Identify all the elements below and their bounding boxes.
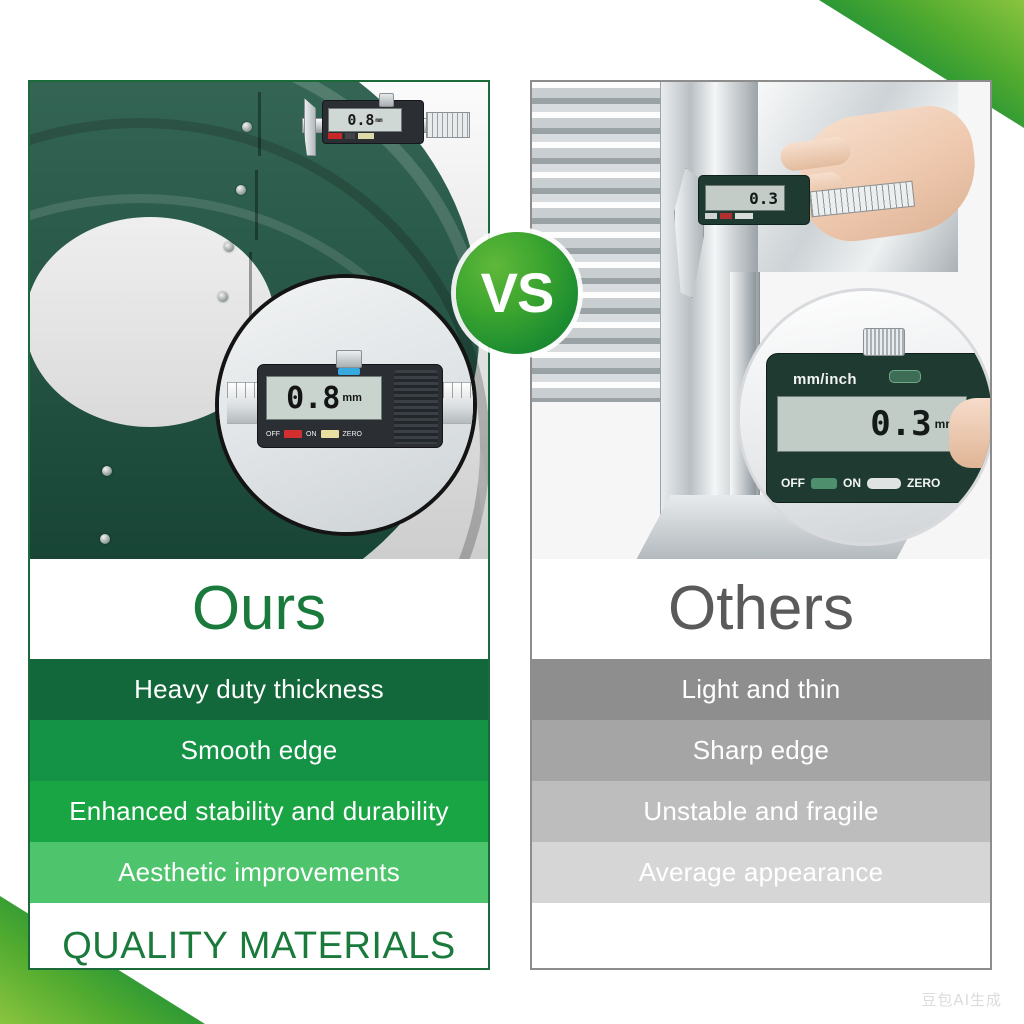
ours-feature-row-2: Smooth edge [30,720,488,781]
others-feature-row-1: Light and thin [532,659,990,720]
caliper-lcd-right: 0.3 [705,185,785,211]
caliper-off-switch-right [705,213,717,219]
magnified-caliper-knob-right [863,328,905,356]
digital-caliper-small: 0.8mm [302,96,470,156]
magnified-caliper-grip [394,370,438,444]
caliper-reading-right: 0.3 [749,189,778,208]
others-card: 0.3 mm/inch 0.3mm OFF [530,80,992,970]
caliper-off-on-switch [328,133,342,139]
caliper-power-switch [284,430,302,438]
ours-title: Ours [192,578,326,640]
caliper-unit-small: mm [375,117,382,124]
caliper-thumb-knob [379,93,394,107]
caliper-on-label-right: ON [843,476,861,490]
caliper-buttons-small [328,132,420,139]
others-feature-label-2: Sharp edge [693,735,829,766]
magnified-caliper-blue-tab [338,368,360,375]
bolt [242,122,252,132]
others-feature-label-4: Average appearance [639,857,884,888]
others-title-band: Others [532,559,990,659]
others-feature-label-1: Light and thin [682,674,841,705]
magnified-caliper-mm-inch-label: mm/inch [793,371,857,388]
bolt [100,534,110,544]
magnified-caliper-reading-right: 0.3 [870,404,931,444]
digital-caliper-right: 0.3 [674,170,914,232]
corrugated-steel-background [532,82,670,402]
bolt [236,185,246,195]
magnified-caliper-body: 0.8mm OFF ON ZERO [257,364,443,448]
caliper-rule-right [809,181,915,218]
vs-label: VS [481,265,554,321]
caliper-zero-switch-right [735,213,753,219]
magnified-caliper-controls-right: OFF ON ZERO [781,473,987,493]
ours-feature-row-4: Aesthetic improvements [30,842,488,903]
ours-title-band: Ours [30,559,488,659]
ours-magnifier-bubble: 0.8mm OFF ON ZERO [215,274,477,536]
caliper-zero-switch [321,430,339,438]
ours-footer-text: QUALITY MATERIALS [62,925,456,968]
ours-feature-label-4: Aesthetic improvements [118,857,400,888]
caliper-on-switch-right [720,213,732,219]
ours-product-photo: 0.8mm 0.8mm [30,82,488,559]
caliper-body-right: 0.3 [698,175,810,225]
caliper-off-label-right: OFF [781,476,805,490]
caliper-buttons-right [705,212,801,219]
ours-feature-row-3: Enhanced stability and durability [30,781,488,842]
others-feature-label-3: Unstable and fragile [643,796,878,827]
caliper-lcd-small: 0.8mm [328,108,402,132]
caliper-display-body: 0.8mm [322,100,424,144]
others-footer-band [532,903,990,970]
others-feature-row-3: Unstable and fragile [532,781,990,842]
comparison-infographic: 0.8mm 0.8mm [0,0,1024,1024]
others-feature-list: Light and thin Sharp edge Unstable and f… [532,659,990,903]
ours-feature-row-1: Heavy duty thickness [30,659,488,720]
magnified-caliper-mode-button [889,370,921,383]
caliper-power-switch-right [811,478,837,489]
ours-feature-label-1: Heavy duty thickness [134,674,384,705]
caliper-jaw [304,98,316,156]
magnified-caliper-controls: OFF ON ZERO [266,428,388,440]
ours-card: 0.8mm 0.8mm [28,80,490,970]
magnified-caliper-knob [336,350,362,368]
magnified-caliper-reading: 0.8 [286,381,340,416]
thumb-in-magnifier [949,398,990,468]
others-feature-row-2: Sharp edge [532,720,990,781]
panel-seam [258,92,261,156]
bolt [224,242,234,252]
caliper-reading-small: 0.8 [347,111,374,129]
magnified-caliper-lcd-right: 0.3mm [777,396,967,452]
caliper-zero-switch-big-right [867,478,901,489]
watermark: 豆包AI生成 [921,989,1002,1010]
caliper-zero-button [358,133,374,139]
others-magnifier-bubble: mm/inch 0.3mm OFF ON ZERO [737,288,990,546]
caliper-spacer [345,133,355,139]
caliper-off-label: OFF [266,431,280,438]
others-feature-row-4: Average appearance [532,842,990,903]
ours-feature-label-2: Smooth edge [181,735,338,766]
ours-feature-list: Heavy duty thickness Smooth edge Enhance… [30,659,488,903]
caliper-zero-label: ZERO [343,431,362,438]
ours-feature-label-3: Enhanced stability and durability [69,796,449,827]
magnified-caliper-lcd: 0.8mm [266,376,382,420]
caliper-on-label: ON [306,431,317,438]
caliper-scale [426,112,470,138]
ours-footer-band: QUALITY MATERIALS [30,903,488,970]
others-product-photo: 0.3 mm/inch 0.3mm OFF [532,82,990,559]
bolt [102,466,112,476]
panel-seam [255,170,258,240]
vs-badge: VS [456,232,578,354]
magnified-caliper-body-right: mm/inch 0.3mm OFF ON ZERO [766,353,990,503]
magnified-caliper-unit: mm [342,392,362,404]
caliper-zero-label-right: ZERO [907,476,940,490]
others-title: Others [668,578,854,640]
